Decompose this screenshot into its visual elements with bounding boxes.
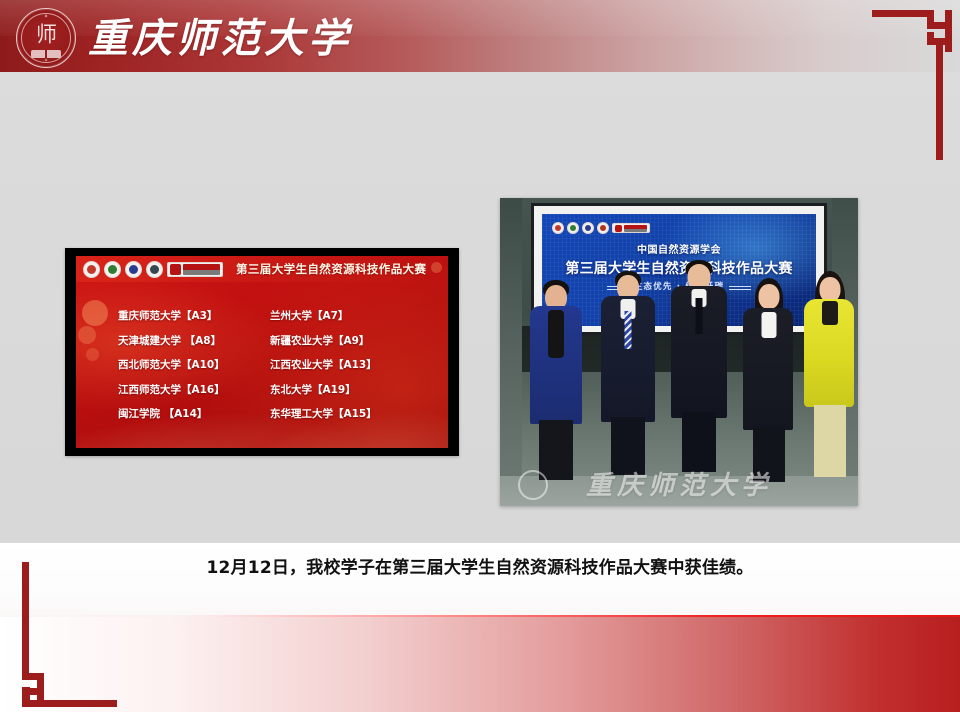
award-entry: 重庆师范大学【A3】 <box>118 308 270 323</box>
screen-logo-5-icon <box>612 223 650 233</box>
award-entry: 江西农业大学【A13】 <box>270 357 430 372</box>
person-2 <box>596 271 660 476</box>
award-winner-list: 重庆师范大学【A3】 兰州大学【A7】 天津城建大学 【A8】 新疆农业大学【A… <box>118 308 438 421</box>
award-title-bar: 第三届大学生自然资源科技作品大赛 <box>76 256 448 282</box>
sponsor-logo-3-icon <box>125 261 142 278</box>
header-underline <box>0 70 960 73</box>
slide-root: 师 重庆师范大学 <box>0 0 960 720</box>
corner-ornament-top-right <box>872 10 952 160</box>
screen-sponsor-logo-row <box>552 222 650 234</box>
wall-panel-left <box>500 198 522 506</box>
group-photo-image: 中国自然资源学会 第三届大学生自然资源科技作品大赛 生态优先 · 绿色低碳 <box>500 198 858 506</box>
award-entry: 新疆农业大学【A9】 <box>270 333 430 348</box>
person-1 <box>524 280 588 476</box>
bottom-gradient-band <box>0 617 960 720</box>
seal-book-icon <box>31 50 61 58</box>
award-image-title: 第三届大学生自然资源科技作品大赛 <box>236 261 426 277</box>
screen-organization-name: 中国自然资源学会 <box>542 241 816 256</box>
university-wordmark: 重庆师范大学 <box>88 4 352 66</box>
award-entry: 天津城建大学 【A8】 <box>118 333 270 348</box>
sponsor-logo-row <box>83 261 223 278</box>
corner-ornament-bottom-left <box>22 562 117 707</box>
slide-caption: 12月12日，我校学子在第三届大学生自然资源科技作品大赛中获佳绩。 <box>0 553 960 578</box>
sponsor-logo-4-icon <box>146 261 163 278</box>
sponsor-logo-1-icon <box>83 261 100 278</box>
bokeh-dot <box>86 348 99 361</box>
sponsor-logo-2-icon <box>104 261 121 278</box>
bottom-white-strip <box>0 712 960 720</box>
screen-logo-1-icon <box>552 222 564 234</box>
bokeh-dot <box>78 326 96 344</box>
photo-watermark: 重庆师范大学 <box>500 465 858 502</box>
award-entry: 兰州大学【A7】 <box>270 308 430 323</box>
screen-logo-4-icon <box>597 222 609 234</box>
bokeh-dot <box>82 300 108 326</box>
person-3 <box>666 260 732 476</box>
screen-logo-2-icon <box>567 222 579 234</box>
seal-glyph: 师 <box>36 24 56 45</box>
award-entry: 西北师范大学【A10】 <box>118 357 270 372</box>
person-4 <box>740 278 798 476</box>
award-list-screen: 第三届大学生自然资源科技作品大赛 重庆师范大学【A3】 兰州大学【A7】 天津城… <box>76 256 448 448</box>
university-seal-icon: 师 <box>16 8 76 68</box>
award-entry: 闽江学院 【A14】 <box>118 406 270 421</box>
page-header: 师 重庆师范大学 <box>0 0 960 72</box>
sponsor-logo-5-icon <box>167 262 223 277</box>
award-entry: 东北大学【A19】 <box>270 382 430 397</box>
award-list-image: 第三届大学生自然资源科技作品大赛 重庆师范大学【A3】 兰州大学【A7】 天津城… <box>65 248 459 456</box>
person-5 <box>802 271 858 476</box>
screen-logo-3-icon <box>582 222 594 234</box>
award-entry: 江西师范大学【A16】 <box>118 382 270 397</box>
award-entry: 东华理工大学【A15】 <box>270 406 430 421</box>
